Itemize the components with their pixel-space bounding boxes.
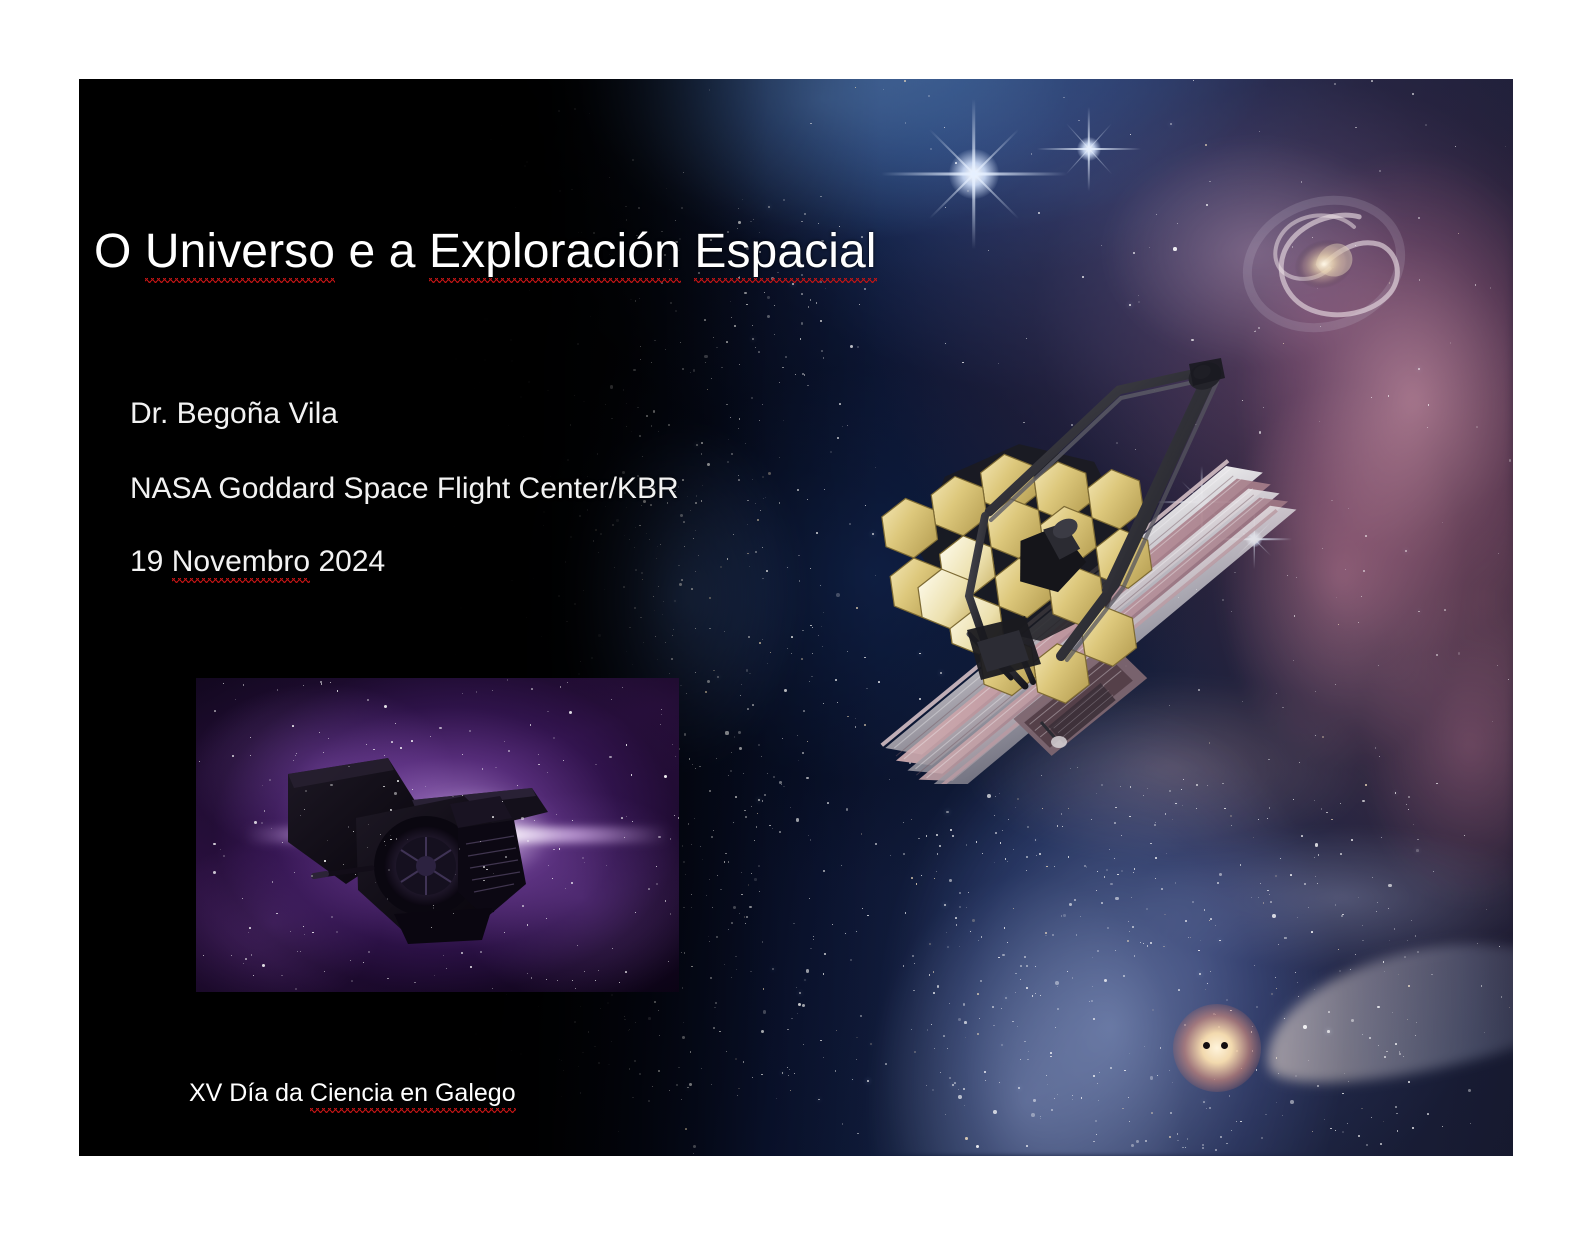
star-dot — [1206, 1108, 1207, 1109]
inset-star-dot — [670, 838, 672, 840]
title-segment-1: O — [94, 225, 145, 278]
star-dot — [1072, 1095, 1073, 1096]
star-dot — [448, 349, 450, 351]
star-dot — [1403, 1056, 1404, 1057]
star-dot — [683, 1022, 684, 1023]
star-dot — [701, 500, 703, 502]
star-dot — [738, 428, 740, 430]
star-dot — [654, 1001, 656, 1003]
inset-star-dot — [595, 764, 596, 765]
star-dot — [824, 489, 825, 490]
star-dot — [864, 288, 866, 290]
star-dot — [758, 351, 760, 353]
star-dot — [1001, 1008, 1002, 1009]
inset-star-dot — [312, 932, 313, 933]
star-dot — [1040, 1116, 1041, 1117]
star-dot — [1428, 404, 1430, 406]
star-dot — [1096, 890, 1097, 891]
star-dot — [1322, 548, 1323, 549]
star-dot — [686, 693, 688, 695]
star-dot — [1240, 1121, 1241, 1122]
star-dot — [827, 802, 829, 804]
star-dot — [728, 775, 729, 776]
star-dot — [755, 347, 756, 348]
inset-star-dot — [390, 835, 391, 836]
star-dot — [779, 382, 781, 384]
star-dot — [1219, 940, 1221, 942]
star-dot — [821, 626, 822, 627]
star-dot — [1254, 965, 1255, 966]
star-dot — [966, 844, 968, 846]
star-dot — [762, 404, 764, 406]
inset-star-dot — [462, 754, 463, 755]
star-dot — [789, 1069, 790, 1070]
star-dot — [107, 724, 108, 725]
star-dot — [299, 189, 300, 190]
star-dot — [1355, 954, 1356, 955]
star-dot — [656, 558, 657, 559]
star-dot — [779, 457, 780, 458]
inset-star-dot — [635, 912, 636, 913]
star-dot — [642, 579, 643, 580]
star-dot — [784, 689, 787, 692]
star-dot — [1362, 1034, 1363, 1035]
star-dot — [1455, 146, 1456, 147]
star-dot — [1224, 808, 1225, 809]
inset-star-dot — [492, 816, 494, 818]
star-dot — [582, 1052, 584, 1054]
inset-star-dot — [245, 958, 247, 960]
star-dot — [1265, 1114, 1266, 1115]
star-dot — [936, 871, 937, 872]
date-month-misspelled: Novembro — [172, 545, 310, 578]
star-dot — [116, 880, 118, 882]
star-dot — [764, 794, 767, 797]
star-dot — [288, 993, 289, 994]
star-dot — [979, 1018, 981, 1020]
star-dot — [675, 310, 677, 312]
star-dot — [145, 390, 146, 391]
star-dot — [1149, 247, 1150, 248]
star-dot — [745, 923, 746, 924]
star-dot — [734, 736, 736, 738]
star-dot — [1345, 569, 1346, 570]
star-dot — [1185, 920, 1187, 922]
star-dot — [1169, 790, 1171, 792]
star-dot — [734, 325, 736, 327]
star-dot — [1099, 1072, 1100, 1073]
star-dot — [695, 672, 696, 673]
star-dot — [1336, 597, 1337, 598]
star-dot — [709, 597, 712, 600]
star-dot — [705, 362, 706, 363]
star-dot — [1498, 553, 1499, 554]
star-dot — [959, 946, 960, 947]
inset-star-dot — [293, 760, 294, 761]
star-dot — [1344, 1073, 1345, 1074]
star-dot — [845, 933, 846, 934]
star-dot — [276, 380, 277, 381]
star-dot — [605, 404, 606, 405]
star-dot — [1470, 1123, 1471, 1124]
star-dot — [753, 219, 754, 220]
star-dot — [832, 924, 833, 925]
star-dot — [293, 1111, 297, 1115]
star-dot — [955, 162, 957, 164]
star-dot — [570, 536, 572, 538]
star-dot — [563, 1070, 564, 1071]
star-dot — [749, 673, 751, 675]
star-dot — [1315, 843, 1319, 847]
star-dot — [1399, 1053, 1401, 1055]
star-dot — [1169, 1136, 1171, 1138]
star-dot — [160, 540, 161, 541]
star-dot — [1404, 956, 1406, 958]
star-dot — [1388, 884, 1392, 888]
star-dot — [1358, 622, 1359, 623]
star-dot — [758, 865, 760, 867]
star-dot — [1209, 1107, 1211, 1109]
star-dot — [1275, 875, 1277, 877]
inset-star-dot — [251, 954, 253, 956]
star-dot — [1042, 808, 1043, 809]
star-dot — [779, 502, 781, 504]
star-dot — [440, 570, 442, 572]
star-dot — [1226, 999, 1228, 1001]
star-dot — [842, 1123, 844, 1125]
star-dot — [624, 535, 625, 536]
star-dot — [1121, 835, 1123, 837]
title-segment-3: e a — [335, 225, 429, 278]
star-dot — [1111, 519, 1113, 521]
star-dot — [678, 1067, 679, 1068]
star-dot — [1398, 974, 1399, 975]
star-dot — [1259, 131, 1260, 132]
inset-star-dot — [575, 988, 576, 989]
star-dot — [1350, 969, 1351, 970]
star-dot — [846, 808, 849, 811]
star-dot — [687, 496, 688, 497]
star-dot — [1412, 93, 1414, 95]
star-dot — [1298, 996, 1299, 997]
star-dot — [1276, 693, 1277, 694]
star-dot — [958, 1018, 961, 1021]
star-dot — [981, 936, 983, 938]
star-dot — [1284, 937, 1286, 939]
star-dot — [937, 853, 939, 855]
star-dot — [999, 793, 1000, 794]
star-dot — [747, 500, 748, 501]
star-dot — [747, 524, 748, 525]
star-dot — [855, 726, 857, 728]
star-dot — [231, 1066, 233, 1068]
star-dot — [1024, 1041, 1026, 1043]
inset-star-dot — [480, 841, 481, 842]
star-dot — [634, 547, 635, 548]
star-dot — [720, 889, 722, 891]
star-dot — [537, 1154, 538, 1155]
star-dot — [626, 219, 628, 221]
star-dot — [577, 343, 579, 345]
star-dot — [1005, 997, 1007, 999]
star-dot — [1181, 789, 1182, 790]
star-dot — [818, 635, 819, 636]
star-dot — [698, 555, 699, 556]
star-dot — [856, 931, 857, 932]
star-dot — [947, 1048, 948, 1049]
star-dot — [1196, 808, 1197, 809]
title-segment-5 — [681, 225, 694, 278]
star-dot — [1135, 449, 1136, 450]
star-dot — [850, 959, 852, 961]
star-dot — [717, 676, 719, 678]
star-dot — [804, 979, 807, 982]
star-dot — [1220, 1136, 1222, 1138]
star-dot — [810, 625, 812, 627]
star-dot — [1123, 975, 1125, 977]
star-dot — [429, 87, 430, 88]
star-dot — [604, 589, 606, 591]
star-dot — [1155, 822, 1156, 823]
star-dot — [1416, 1022, 1417, 1023]
star-dot — [1052, 934, 1054, 936]
star-dot — [952, 835, 955, 838]
star-dot — [1347, 1123, 1348, 1124]
star-dot — [614, 567, 615, 568]
star-dot — [630, 299, 632, 301]
star-dot — [1007, 942, 1008, 943]
page-canvas: O Universo e a Exploración Espacial Dr. … — [0, 0, 1595, 1233]
star-dot — [1442, 522, 1443, 523]
star-dot — [802, 1004, 805, 1007]
inset-star-dot — [348, 826, 350, 828]
star-dot — [711, 378, 712, 379]
star-dot — [666, 188, 667, 189]
star-dot — [813, 936, 814, 937]
star-dot — [1331, 819, 1333, 821]
star-dot — [1230, 815, 1232, 817]
star-dot — [964, 1021, 967, 1024]
inset-star-dot — [249, 927, 251, 929]
star-dot — [94, 1033, 96, 1035]
star-dot — [1035, 966, 1037, 968]
star-dot — [810, 568, 811, 569]
star-dot — [1201, 1039, 1203, 1041]
star-dot — [1397, 1130, 1399, 1132]
star-dot — [1328, 1011, 1330, 1013]
star-dot — [955, 917, 957, 919]
star-dot — [797, 1013, 798, 1014]
star-dot — [1261, 1137, 1263, 1139]
star-dot — [725, 731, 728, 734]
star-dot — [801, 221, 803, 223]
star-dot — [533, 578, 534, 579]
star-dot — [1091, 1000, 1093, 1002]
star-dot — [104, 688, 105, 689]
star-dot — [1436, 783, 1438, 785]
star-dot — [744, 810, 745, 811]
star-dot — [490, 139, 492, 141]
star-dot — [626, 403, 628, 405]
star-dot — [1242, 400, 1244, 402]
star-dot — [1365, 784, 1367, 786]
star-dot — [1294, 615, 1296, 617]
star-dot — [1198, 950, 1200, 952]
star-dot — [1101, 784, 1103, 786]
star-dot — [1131, 1144, 1134, 1147]
star-dot — [440, 1120, 444, 1124]
page-title: O Universo e a Exploración Espacial — [94, 227, 1094, 278]
star-dot — [1363, 570, 1365, 572]
star-dot — [1132, 926, 1134, 928]
inset-star-dot — [517, 785, 518, 786]
star-dot — [691, 588, 693, 590]
star-dot — [390, 335, 391, 336]
inset-star-dot — [394, 792, 397, 795]
star-dot — [823, 357, 824, 358]
star-dot — [463, 449, 464, 450]
star-dot — [1020, 979, 1021, 980]
star-dot — [382, 594, 383, 595]
star-dot — [1340, 803, 1341, 804]
star-dot — [574, 1021, 576, 1023]
star-dot — [588, 1031, 590, 1033]
star-dot — [1198, 689, 1200, 691]
star-dot — [976, 841, 977, 842]
star-dot — [691, 894, 692, 895]
star-dot — [249, 451, 251, 453]
star-dot — [1427, 427, 1428, 428]
star-dot — [744, 916, 746, 918]
star-dot — [1425, 124, 1427, 126]
star-dot — [1024, 956, 1026, 958]
star-dot — [724, 861, 726, 863]
star-dot — [741, 684, 742, 685]
star-dot — [658, 1010, 659, 1011]
star-dot — [1326, 812, 1328, 814]
star-dot — [770, 652, 772, 654]
star-dot — [1418, 368, 1420, 370]
star-dot — [693, 369, 695, 371]
star-dot — [511, 580, 513, 582]
star-dot — [1230, 1010, 1232, 1012]
star-dot — [798, 555, 800, 557]
star-dot — [1074, 899, 1076, 901]
star-dot — [1199, 973, 1201, 975]
star-dot — [506, 994, 508, 996]
star-dot — [739, 364, 740, 365]
star-dot — [567, 459, 569, 461]
star-dot — [767, 315, 770, 318]
star-dot — [207, 532, 208, 533]
star-dot — [561, 1060, 562, 1061]
inset-star-dot — [300, 815, 301, 816]
star-dot — [1127, 940, 1129, 942]
star-dot — [1258, 327, 1260, 329]
star-dot — [308, 527, 309, 528]
star-dot — [693, 1153, 694, 1154]
star-dot — [1001, 1044, 1003, 1046]
star-dot — [1315, 735, 1316, 736]
star-dot — [739, 913, 741, 915]
star-dot — [1045, 932, 1047, 934]
star-dot — [733, 534, 734, 535]
star-dot — [856, 607, 858, 609]
star-dot — [240, 112, 241, 113]
star-dot — [283, 378, 284, 379]
star-dot — [400, 222, 402, 224]
star-dot — [1207, 983, 1208, 984]
star-dot — [713, 337, 714, 338]
star-dot — [643, 642, 644, 643]
star-dot — [1379, 756, 1380, 757]
star-dot — [99, 955, 102, 958]
star-dot — [695, 628, 696, 629]
star-dot — [1308, 907, 1309, 908]
star-dot — [293, 183, 294, 184]
inset-star-dot — [665, 900, 667, 902]
star-dot — [611, 994, 613, 996]
star-dot — [632, 1097, 634, 1099]
star-dot — [634, 1060, 635, 1061]
star-dot — [678, 565, 680, 567]
star-dot — [1338, 624, 1339, 625]
star-dot — [867, 915, 868, 916]
star-dot — [1192, 901, 1194, 903]
star-dot — [629, 1029, 630, 1030]
star-dot — [371, 467, 373, 469]
star-dot — [1217, 882, 1219, 884]
inset-star-dot — [304, 809, 305, 810]
star-dot — [903, 853, 905, 855]
star-dot — [810, 123, 811, 124]
star-dot — [870, 1043, 872, 1045]
inset-star-dot — [296, 753, 297, 754]
inset-star-dot — [387, 978, 389, 980]
star-dot — [1202, 1144, 1204, 1146]
star-dot — [711, 1084, 713, 1086]
star-dot — [905, 122, 907, 124]
inset-star-dot — [396, 838, 397, 839]
star-dot — [721, 367, 723, 369]
star-dot — [180, 914, 183, 917]
star-dot — [835, 679, 837, 681]
star-dot — [725, 853, 727, 855]
star-dot — [1458, 233, 1459, 234]
star-dot — [959, 892, 960, 893]
star-dot — [682, 987, 683, 988]
star-dot — [905, 912, 907, 914]
star-dot — [690, 372, 691, 373]
star-dot — [962, 362, 964, 364]
star-dot — [1267, 890, 1269, 892]
star-dot — [708, 936, 710, 938]
inset-star-dot — [531, 688, 533, 690]
star-dot — [1172, 1082, 1173, 1083]
star-dot — [1362, 800, 1364, 802]
star-dot — [728, 929, 729, 930]
star-dot — [1497, 665, 1498, 666]
star-dot — [1258, 897, 1259, 898]
star-dot — [1375, 747, 1377, 749]
star-dot — [396, 321, 398, 323]
star-dot — [739, 747, 742, 750]
star-dot — [609, 177, 610, 178]
star-dot — [1259, 431, 1262, 434]
star-dot — [1115, 897, 1118, 900]
star-dot — [801, 658, 803, 660]
star-dot — [1348, 1081, 1349, 1082]
